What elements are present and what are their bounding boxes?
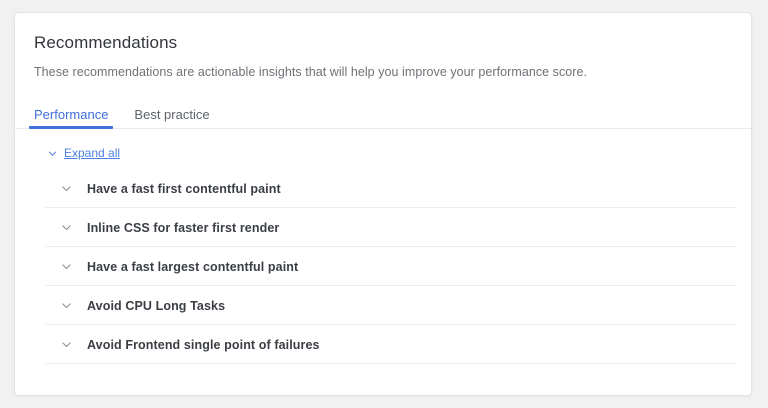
list-item[interactable]: Avoid CPU Long Tasks — [45, 286, 737, 325]
expand-all-link[interactable]: Expand all — [64, 146, 120, 160]
list-item-title: Avoid CPU Long Tasks — [87, 299, 225, 313]
list-item-title: Avoid Frontend single point of failures — [87, 338, 320, 352]
list-item[interactable]: Have a fast largest contentful paint — [45, 247, 737, 286]
page-title: Recommendations — [34, 33, 731, 53]
list-item[interactable]: Have a fast first contentful paint — [45, 169, 737, 208]
list-item[interactable]: Inline CSS for faster first render — [45, 208, 737, 247]
list-item-title: Have a fast largest contentful paint — [87, 260, 298, 274]
chevron-down-icon[interactable] — [59, 260, 73, 274]
chevron-down-icon[interactable] — [59, 338, 73, 352]
chevron-down-icon[interactable] — [59, 299, 73, 313]
list-item[interactable]: Avoid Frontend single point of failures — [45, 325, 737, 364]
recommendations-card: Recommendations These recommendations ar… — [14, 12, 752, 396]
card-header: Recommendations These recommendations ar… — [15, 13, 751, 79]
recommendations-list: Have a fast first contentful paint Inlin… — [15, 169, 751, 364]
chevron-down-icon[interactable] — [59, 221, 73, 235]
expand-all-row[interactable]: Expand all — [15, 129, 751, 160]
tab-bar: Performance Best practice — [15, 99, 751, 129]
list-item-title: Have a fast first contentful paint — [87, 182, 281, 196]
chevron-down-icon[interactable] — [59, 182, 73, 196]
chevron-down-icon — [46, 147, 58, 159]
tab-best-practice[interactable]: Best practice — [134, 108, 209, 129]
page-subtitle: These recommendations are actionable ins… — [34, 65, 731, 79]
list-item-title: Inline CSS for faster first render — [87, 221, 279, 235]
tab-performance[interactable]: Performance — [34, 108, 108, 129]
